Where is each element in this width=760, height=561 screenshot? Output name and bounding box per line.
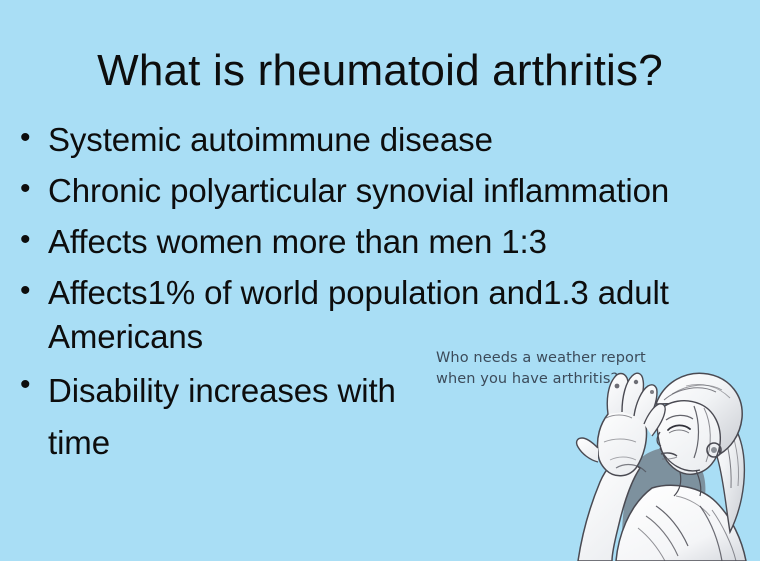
list-item: • Disability increases with time [14,365,428,467]
bullet-marker-icon: • [20,220,30,260]
page-title: What is rheumatoid arthritis? [0,47,760,95]
bullet-marker-icon: • [20,169,30,209]
woman-looking-at-hand-line-drawing [560,356,760,561]
list-item: • Affects women more than men 1:3 [14,220,754,264]
list-item-label: Disability increases with time [48,372,396,460]
slide-canvas: What is rheumatoid arthritis? • Systemic… [0,0,760,561]
list-item: • Systemic autoimmune disease [14,118,754,162]
list-item-label: Systemic autoimmune disease [48,121,493,158]
bullet-marker-icon: • [20,118,30,158]
cartoon-block: Who needs a weather report when you have… [430,340,760,561]
bullet-marker-icon: • [20,365,30,405]
list-item: • Chronic polyarticular synovial inflamm… [14,169,754,213]
list-item-label: Affects women more than men 1:3 [48,223,547,260]
list-item-label: Chronic polyarticular synovial inflammat… [48,172,669,209]
bullet-marker-icon: • [20,271,30,311]
